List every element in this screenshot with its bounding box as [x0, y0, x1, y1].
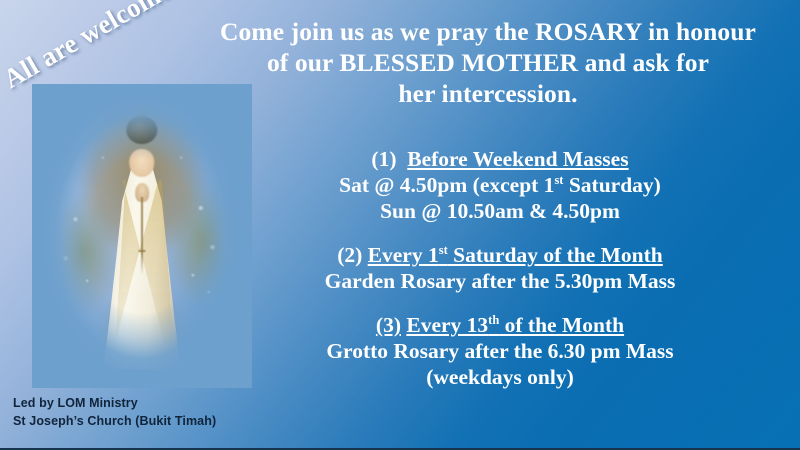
schedule-item-2-title-post: Saturday of the Month — [448, 243, 663, 267]
headline-line-1: Come join us as we pray the ROSARY in ho… — [186, 16, 790, 47]
schedule-item-3-title: Every 13th of the Month — [406, 313, 624, 337]
rosary-announcement-slide: All are welcome! Come join us as we pray… — [0, 0, 800, 450]
page-title: Come join us as we pray the ROSARY in ho… — [186, 16, 790, 109]
schedule-item-3-line-1: Grotto Rosary after the 6.30 pm Mass — [256, 338, 744, 364]
credit-parish: St Joseph’s Church (Bukit Timah) — [13, 412, 216, 430]
credit-block: Led by LOM Ministry St Joseph’s Church (… — [13, 394, 216, 430]
our-lady-of-fatima-photo — [44, 96, 240, 376]
photo-vignette-fade — [32, 84, 252, 388]
schedule-item-1: (1) Before Weekend Masses Sat @ 4.50pm (… — [256, 146, 744, 224]
schedule-item-3-title-pre: Every 13 — [406, 313, 488, 337]
schedule-item-3: (3) Every 13th of the Month Grotto Rosar… — [256, 312, 744, 390]
schedule-item-2-line-1: Garden Rosary after the 5.30pm Mass — [256, 268, 744, 294]
schedule-item-2: (2) Every 1st Saturday of the Month Gard… — [256, 242, 744, 294]
schedule-item-2-title-sup: st — [439, 243, 448, 257]
headline-line-2: of our BLESSED MOTHER and ask for — [186, 47, 790, 78]
schedule-item-3-heading: (3) Every 13th of the Month — [256, 312, 744, 338]
schedule-item-1-line-1: Sat @ 4.50pm (except 1st Saturday) — [256, 172, 744, 198]
schedule-item-2-marker: (2) — [337, 243, 362, 267]
credit-ministry: Led by LOM Ministry — [13, 394, 216, 412]
headline-line-3: her intercession. — [186, 78, 790, 109]
schedule-item-3-title-post: of the Month — [499, 313, 624, 337]
schedule-item-2-heading: (2) Every 1st Saturday of the Month — [256, 242, 744, 268]
all-are-welcome-banner: All are welcome! — [0, 0, 185, 95]
rosary-schedule-list: (1) Before Weekend Masses Sat @ 4.50pm (… — [256, 146, 744, 390]
schedule-item-2-title: Every 1st Saturday of the Month — [368, 243, 663, 267]
schedule-item-1-marker: (1) — [371, 147, 396, 171]
schedule-item-1-line-1-pre: Sat @ 4.50pm (except 1 — [339, 173, 554, 197]
schedule-item-1-line-1-post: Saturday) — [563, 173, 660, 197]
schedule-item-1-title: Before Weekend Masses — [407, 147, 628, 171]
schedule-item-3-line-2: (weekdays only) — [256, 364, 744, 390]
schedule-item-3-marker: (3) — [376, 313, 401, 337]
schedule-item-3-title-sup: th — [488, 313, 499, 327]
schedule-item-1-line-2: Sun @ 10.50am & 4.50pm — [256, 198, 744, 224]
schedule-item-2-title-pre: Every 1 — [368, 243, 439, 267]
schedule-item-1-heading: (1) Before Weekend Masses — [256, 146, 744, 172]
